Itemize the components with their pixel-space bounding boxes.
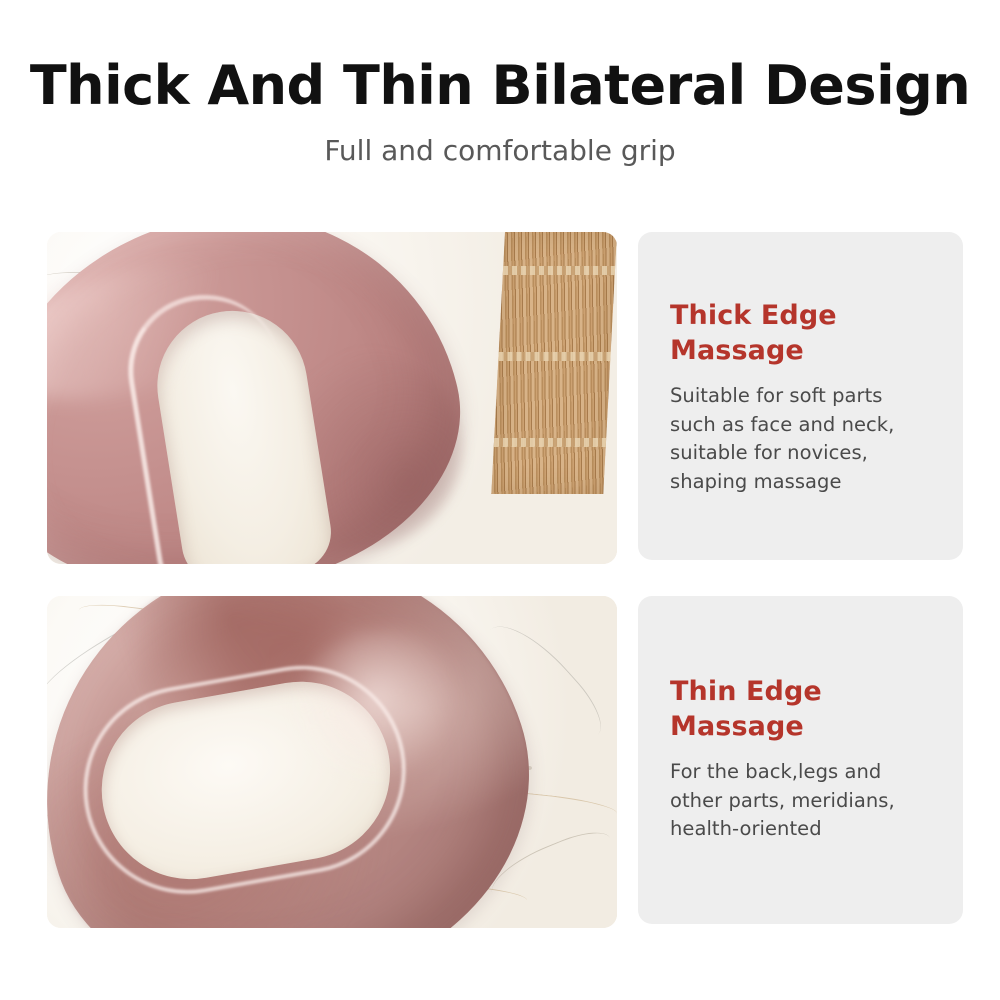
- product-photo-thin-edge: [47, 596, 617, 928]
- feature-description: Suitable for soft parts such as face and…: [670, 382, 939, 496]
- bamboo-binding-thread: [498, 352, 610, 361]
- feature-heading: Thick Edge Massage: [670, 298, 939, 368]
- feature-row-thick-edge: Thick Edge Massage Suitable for soft par…: [0, 232, 1000, 564]
- page-title: Thick And Thin Bilateral Design: [0, 57, 1000, 114]
- photo-scene-thick-edge: [47, 232, 617, 564]
- feature-card-thick-edge: Thick Edge Massage Suitable for soft par…: [638, 232, 963, 560]
- page-subtitle: Full and comfortable grip: [0, 134, 1000, 168]
- feature-row-thin-edge: Thin Edge Massage For the back,legs and …: [0, 596, 1000, 928]
- feature-description: For the back,legs and other parts, merid…: [670, 758, 939, 843]
- feature-heading: Thin Edge Massage: [670, 674, 939, 744]
- card-content: Thin Edge Massage For the back,legs and …: [670, 674, 939, 844]
- feature-card-thin-edge: Thin Edge Massage For the back,legs and …: [638, 596, 963, 924]
- card-content: Thick Edge Massage Suitable for soft par…: [670, 298, 939, 496]
- photo-scene-thin-edge: [47, 596, 617, 928]
- bamboo-mat: [491, 232, 617, 494]
- bamboo-binding-thread: [494, 438, 606, 447]
- page-header: Thick And Thin Bilateral Design Full and…: [0, 0, 1000, 200]
- bamboo-binding-thread: [503, 266, 615, 275]
- gua-sha-stone-thick: [47, 232, 491, 564]
- product-photo-thick-edge: [47, 232, 617, 564]
